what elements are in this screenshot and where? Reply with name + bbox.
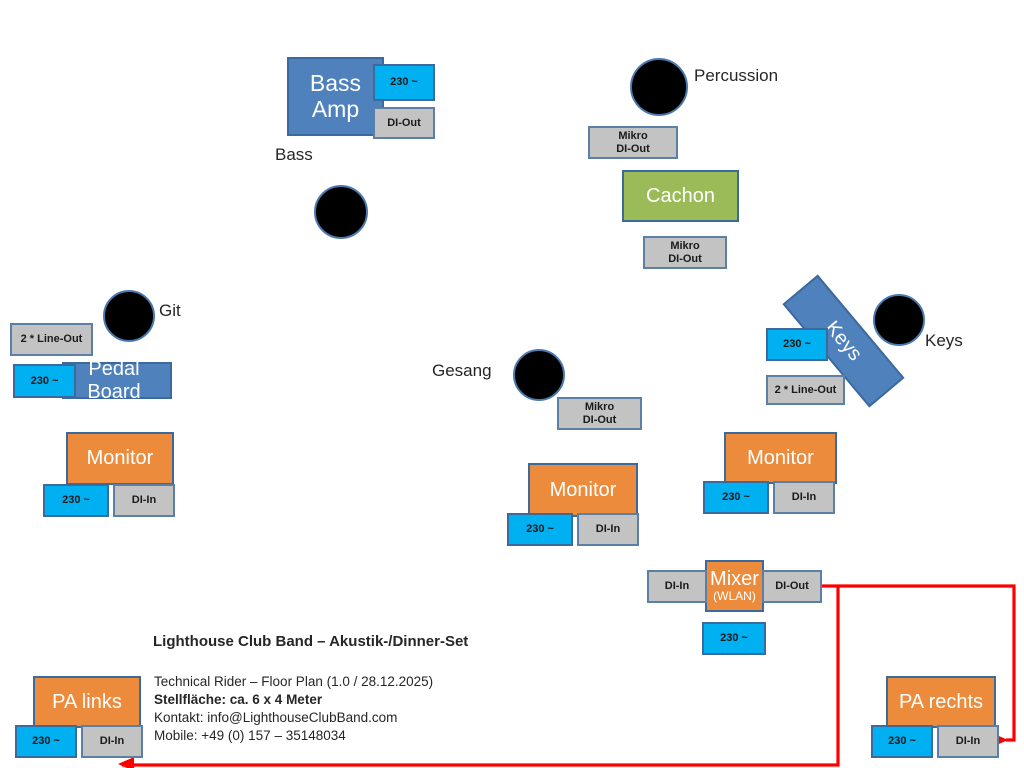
person-percussion[interactable] (630, 58, 688, 116)
cachon-mic-di-out[interactable]: Mikro DI-Out (643, 236, 727, 269)
person-label-git: Git (159, 301, 181, 321)
floor-plan-canvas: Bass Amp 230 ~ DI-Out Bass Percussion Mi… (0, 0, 1024, 768)
monitor-left-power[interactable]: 230 ~ (43, 484, 109, 517)
monitor-right-power[interactable]: 230 ~ (703, 481, 769, 514)
person-bass[interactable] (314, 185, 368, 239)
plan-contact-email: Kontakt: info@LighthouseClubBand.com (154, 708, 397, 727)
bass-amp-power[interactable]: 230 ~ (373, 64, 435, 101)
percussion-mic-di-out[interactable]: Mikro DI-Out (588, 126, 678, 159)
monitor-center-power[interactable]: 230 ~ (507, 513, 573, 546)
arrowhead-pa-left (118, 757, 134, 768)
mixer-power[interactable]: 230 ~ (702, 622, 766, 655)
pa-left-di-in[interactable]: DI-In (81, 725, 143, 758)
equipment-monitor-right[interactable]: Monitor (724, 432, 837, 484)
equipment-bass-amp[interactable]: Bass Amp (287, 57, 384, 136)
plan-area: Stellfläche: ca. 6 x 4 Meter (154, 690, 322, 709)
pa-left-power[interactable]: 230 ~ (15, 725, 77, 758)
person-keys[interactable] (873, 294, 925, 346)
plan-title: Lighthouse Club Band – Akustik-/Dinner-S… (153, 633, 468, 650)
gesang-mic-di-out[interactable]: Mikro DI-Out (557, 397, 642, 430)
keys-power[interactable]: 230 ~ (766, 328, 828, 361)
pa-right-di-in[interactable]: DI-In (937, 725, 999, 758)
monitor-right-di-in[interactable]: DI-In (773, 481, 835, 514)
person-label-keys: Keys (925, 331, 963, 351)
equipment-mixer[interactable]: Mixer (WLAN) (705, 560, 764, 612)
mixer-label: Mixer (710, 568, 759, 590)
person-git[interactable] (103, 290, 155, 342)
pedal-board-label: Pedal Board (64, 358, 164, 403)
pedal-board-power[interactable]: 230 ~ (13, 364, 76, 398)
plan-contact-mobile: Mobile: +49 (0) 157 – 35148034 (154, 726, 346, 745)
equipment-monitor-left[interactable]: Monitor (66, 432, 174, 485)
person-label-gesang: Gesang (432, 361, 492, 381)
bass-amp-di-out[interactable]: DI-Out (373, 107, 435, 139)
equipment-cachon[interactable]: Cachon (622, 170, 739, 222)
equipment-pa-right[interactable]: PA rechts (886, 676, 996, 728)
monitor-left-di-in[interactable]: DI-In (113, 484, 175, 517)
monitor-center-di-in[interactable]: DI-In (577, 513, 639, 546)
keys-line-out[interactable]: 2 * Line-Out (766, 375, 845, 405)
equipment-pa-left[interactable]: PA links (33, 676, 141, 728)
mixer-di-out[interactable]: DI-Out (762, 570, 822, 603)
equipment-pedal-board[interactable]: Pedal Board (62, 362, 172, 399)
mixer-sublabel: (WLAN) (713, 590, 756, 603)
person-label-percussion: Percussion (694, 66, 778, 86)
pa-right-power[interactable]: 230 ~ (871, 725, 933, 758)
equipment-monitor-center[interactable]: Monitor (528, 463, 638, 517)
person-gesang[interactable] (513, 349, 565, 401)
mixer-di-in[interactable]: DI-In (647, 570, 707, 603)
bass-amp-label: Bass Amp (289, 71, 382, 123)
person-label-bass: Bass (275, 145, 313, 165)
plan-revision: Technical Rider – Floor Plan (1.0 / 28.1… (154, 672, 433, 691)
git-line-out[interactable]: 2 * Line-Out (10, 323, 93, 356)
